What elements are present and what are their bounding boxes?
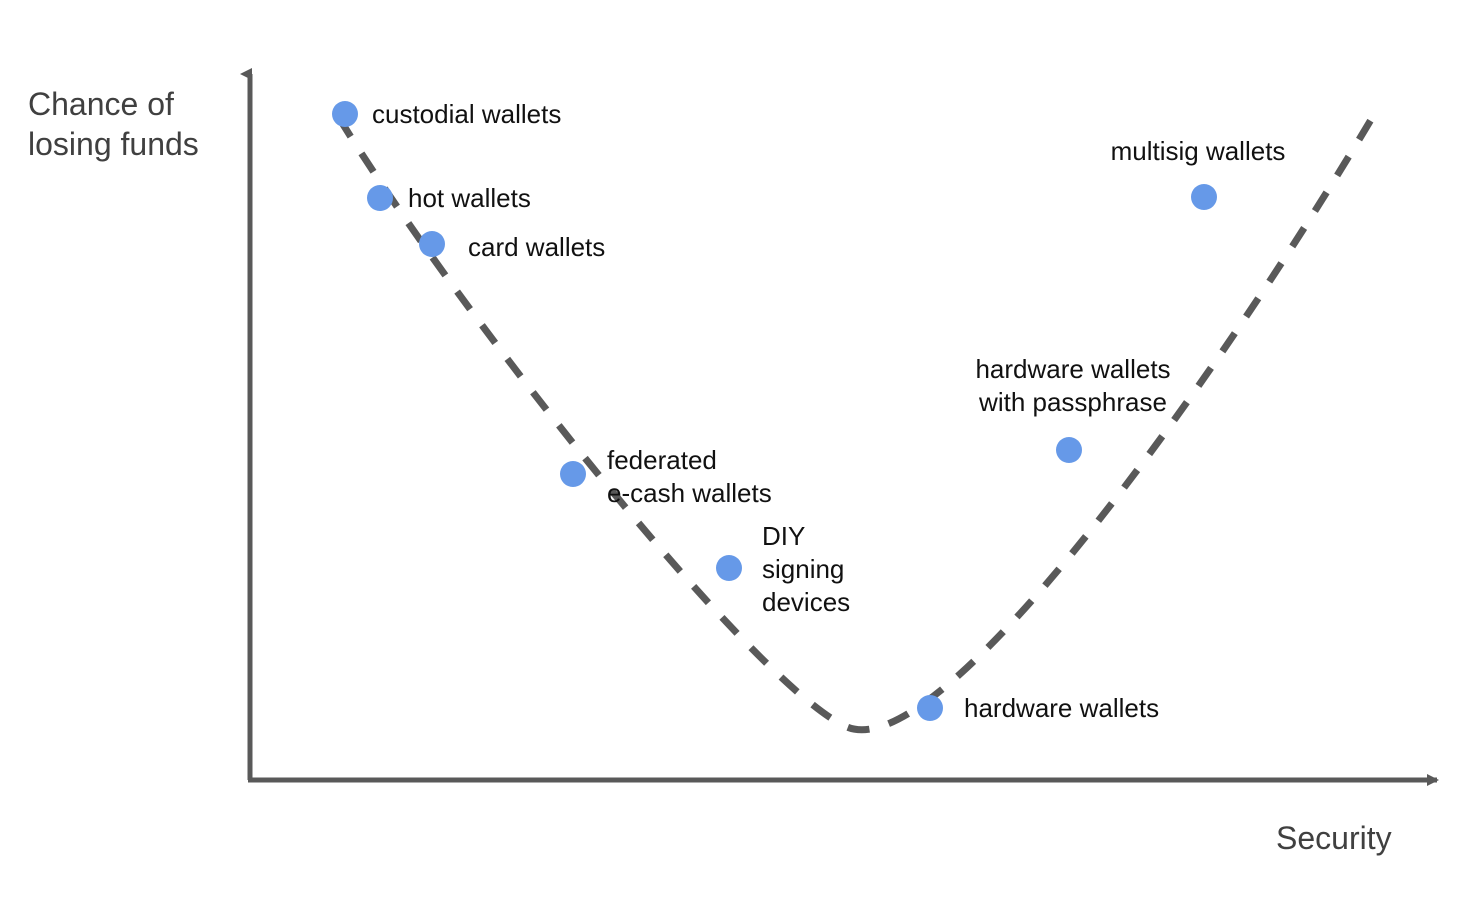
data-point-label: card wallets (468, 231, 605, 264)
data-point-marker[interactable] (1056, 437, 1082, 463)
data-point-marker[interactable] (716, 555, 742, 581)
data-point-marker[interactable] (332, 101, 358, 127)
data-point-label: custodial wallets (372, 98, 561, 131)
data-point-label: multisig wallets (1111, 135, 1286, 168)
data-point-marker[interactable] (1191, 184, 1217, 210)
data-point-label: hardware wallets with passphrase (975, 353, 1170, 419)
data-point-label: hardware wallets (964, 692, 1159, 725)
data-point-marker[interactable] (367, 185, 393, 211)
data-point-marker[interactable] (419, 231, 445, 257)
data-point-marker[interactable] (560, 461, 586, 487)
x-axis-title: Security (1276, 818, 1392, 858)
data-point-marker[interactable] (917, 695, 943, 721)
data-point-label: DIY signing devices (762, 520, 850, 619)
chart-canvas: Chance of losing funds Security custodia… (0, 0, 1461, 905)
data-point-label: federated e-cash wallets (607, 444, 772, 510)
y-axis-title: Chance of losing funds (28, 84, 199, 164)
data-point-label: hot wallets (408, 182, 531, 215)
